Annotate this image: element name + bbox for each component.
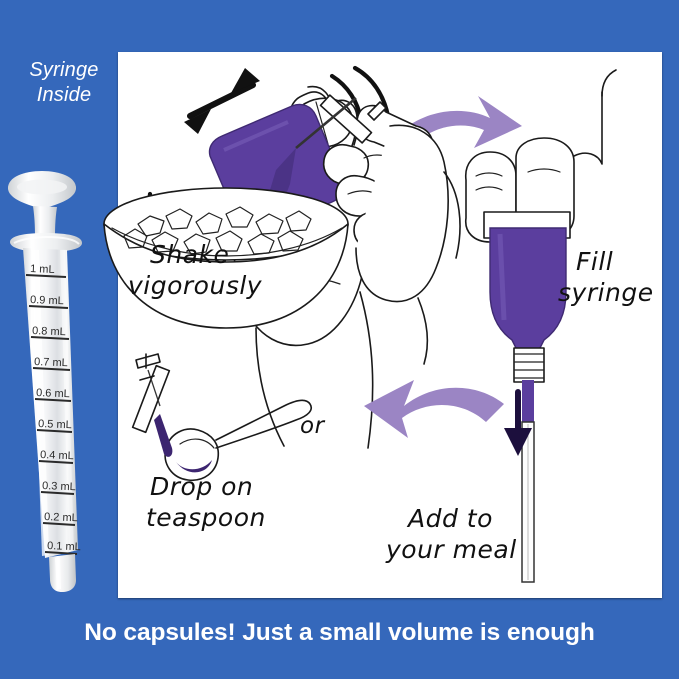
- scale-label: 0.8 mL: [32, 325, 66, 338]
- caption-fill: Fill syringe: [576, 247, 654, 308]
- scale-label: 0.3 mL: [42, 480, 76, 493]
- footer-banner: No capsules! Just a small volume is enou…: [0, 610, 679, 655]
- caption-or: or: [300, 412, 325, 440]
- scale-label: 0.9 mL: [30, 294, 64, 307]
- syringe-teaspoon-icon: [133, 354, 312, 480]
- caption-shake: Shake vigorously: [150, 240, 262, 301]
- caption-add-line2: your meal: [386, 535, 517, 566]
- syringe-plunger-top: [8, 171, 76, 242]
- scale-label: 0.5 mL: [38, 418, 72, 431]
- scale-label: 1 mL: [30, 263, 55, 276]
- caption-drop-line1: Drop on: [150, 472, 266, 503]
- syringe-inside-line1: Syringe: [10, 58, 118, 83]
- caption-shake-line1: Shake: [150, 240, 262, 271]
- scale-label: 0.6 mL: [36, 387, 70, 400]
- caption-fill-line2: syringe: [558, 278, 654, 309]
- caption-drop: Drop on teaspoon: [150, 472, 266, 533]
- curved-arrow-to-meal-icon: [364, 380, 504, 438]
- syringe-inside-label: Syringe Inside: [10, 58, 118, 108]
- caption-add: Add to your meal: [408, 504, 517, 565]
- scale-label: 0.4 mL: [40, 449, 74, 462]
- product-infographic: Syringe Inside: [0, 0, 679, 679]
- syringe-inside-line2: Inside: [10, 83, 118, 108]
- caption-drop-line2: teaspoon: [146, 503, 266, 534]
- caption-shake-line2: vigorously: [128, 271, 262, 302]
- caption-fill-line1: Fill: [576, 247, 654, 278]
- scale-label: 0.1 mL: [47, 540, 81, 553]
- caption-add-line1: Add to: [408, 504, 517, 535]
- syringe-tip: [49, 554, 76, 592]
- scale-label: 0.2 mL: [44, 511, 78, 524]
- syringe-illustration: 1 mL 0.9 mL 0.8 mL 0.7 mL 0.6 mL 0.5 mL …: [2, 168, 120, 598]
- instruction-card: Shake vigorously Fill syringe Drop on te…: [118, 52, 662, 598]
- footer-text: No capsules! Just a small volume is enou…: [84, 619, 594, 647]
- scale-label: 0.7 mL: [34, 356, 68, 369]
